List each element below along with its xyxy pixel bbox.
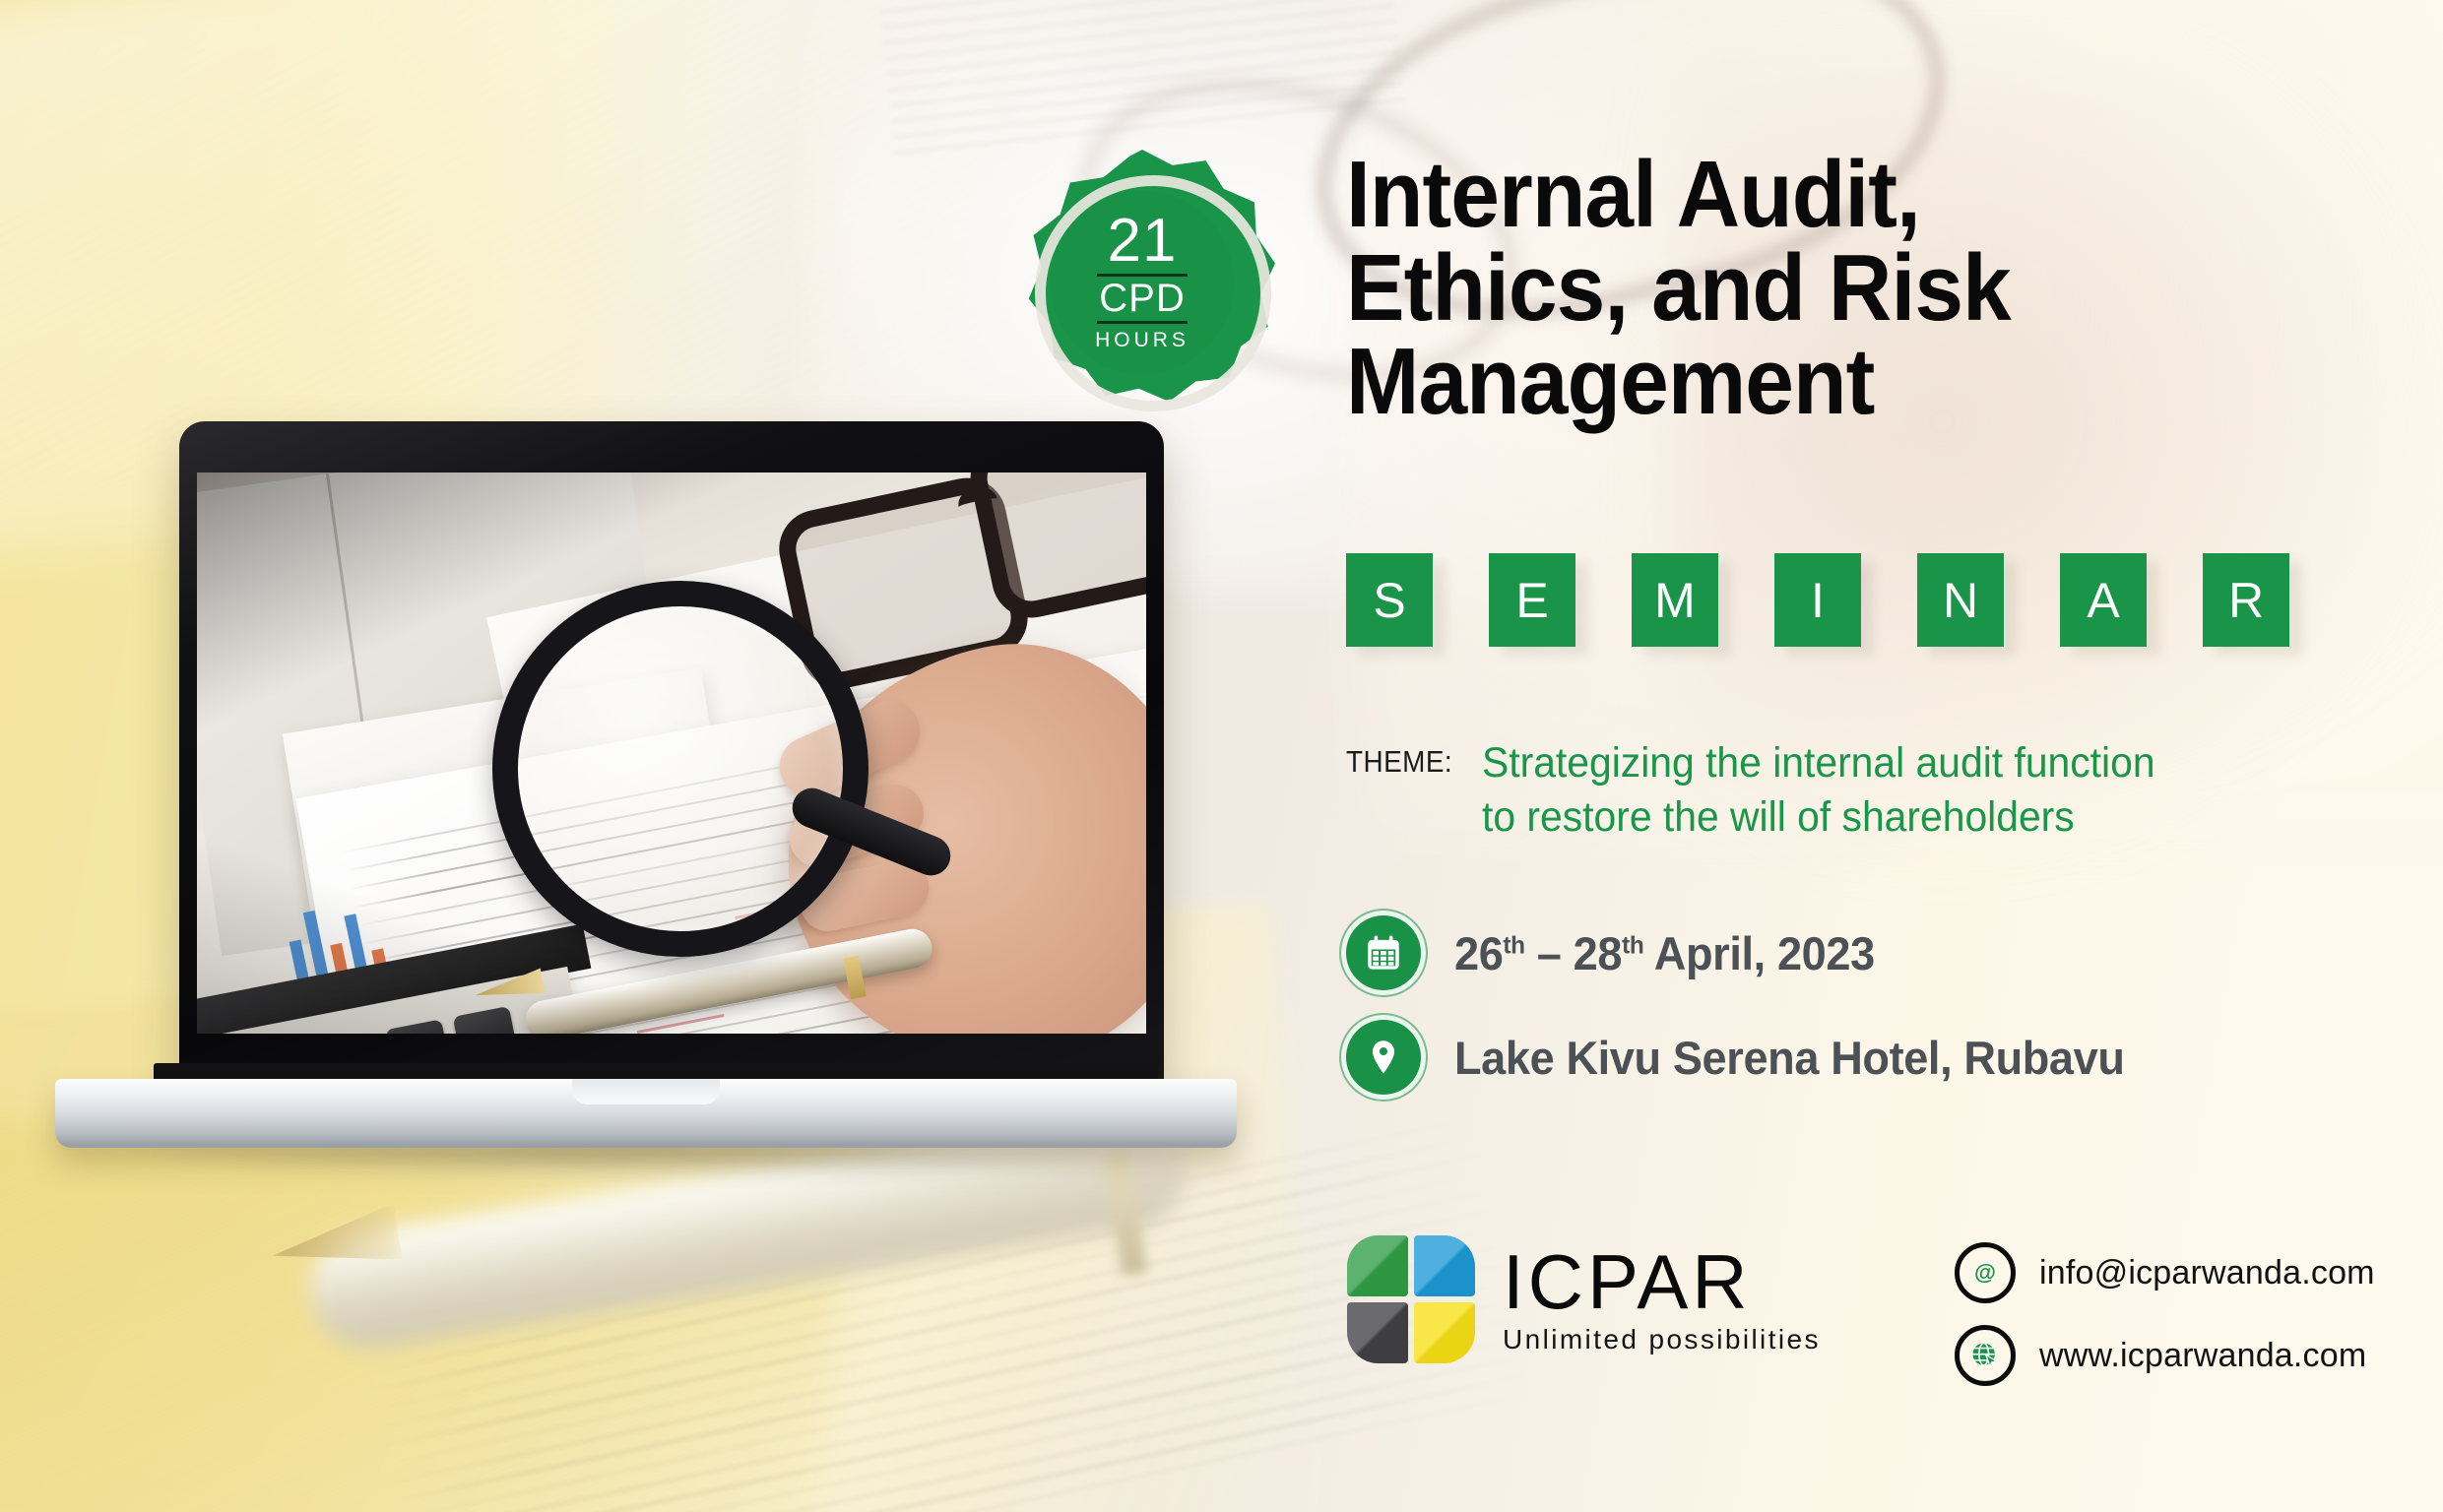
seminar-letter-tile-3: I	[1774, 553, 1861, 647]
date-day-end: 28	[1574, 927, 1622, 979]
laptop-base	[55, 1079, 1237, 1148]
icpar-tagline: Unlimited possibilities	[1503, 1324, 1821, 1355]
title-block: Internal Audit, Ethics, and Risk Managem…	[1346, 148, 2390, 428]
globe-cursor-icon	[1955, 1325, 2016, 1386]
date-day-start-suffix: th	[1503, 931, 1524, 959]
page-title-line-2: Ethics, and Risk	[1346, 241, 2317, 335]
seminar-word: SEMINAR	[1346, 553, 2289, 647]
laptop-shadow	[95, 1144, 1197, 1177]
seminar-letter-tile-6: R	[2203, 553, 2289, 647]
event-venue-row: Lake Kivu Serena Hotel, Rubavu	[1346, 1020, 2153, 1095]
date-day-end-suffix: th	[1622, 931, 1643, 959]
theme-text-wrap: Strategizing the internal audit function…	[1482, 736, 2191, 845]
page-title-line-3: Management	[1346, 335, 2317, 428]
seminar-letter-tile-0: S	[1346, 553, 1433, 647]
seminar-letter-tile-4: N	[1917, 553, 2004, 647]
date-month-year: April, 2023	[1643, 927, 1874, 979]
laptop-screen	[197, 472, 1146, 1034]
petal-yellow-icon	[1414, 1302, 1475, 1363]
event-date-row: 26th – 28th April, 2023	[1346, 915, 2153, 990]
event-venue-text: Lake Kivu Serena Hotel, Rubavu	[1454, 1031, 2125, 1085]
badge-hours-label: HOURS	[1095, 329, 1189, 352]
badge-hours-number: 21	[1108, 213, 1178, 269]
calendar-icon	[1346, 915, 1421, 990]
badge-inner-circle: 21 CPD HOURS	[1051, 191, 1234, 374]
at-sign-icon: @	[1955, 1242, 2016, 1303]
theme-block: THEME: Strategizing the internal audit f…	[1346, 736, 2191, 845]
date-separator: –	[1525, 927, 1574, 979]
petal-green-icon	[1347, 1235, 1408, 1296]
map-pin-icon	[1346, 1020, 1421, 1095]
seminar-letter-tile-2: M	[1632, 553, 1718, 647]
date-day-start: 26	[1454, 927, 1503, 979]
event-date-text: 26th – 28th April, 2023	[1454, 926, 1875, 980]
badge-cpd-label: CPD	[1099, 279, 1185, 318]
seminar-letter-tile-5: A	[2060, 553, 2147, 647]
event-details: 26th – 28th April, 2023 Lake Kivu Serena…	[1346, 915, 2153, 1124]
seminar-poster: 21 CPD HOURS Internal Audit, Ethics, and…	[0, 0, 2443, 1512]
icpar-logo: ICPAR Unlimited possibilities	[1347, 1235, 1821, 1365]
contact-block: @ info@icparwanda.com www.icparwan	[1955, 1242, 2375, 1408]
screen-photo	[197, 472, 1146, 1034]
svg-text:@: @	[1974, 1260, 1996, 1285]
seminar-letter-tile-1: E	[1489, 553, 1575, 647]
laptop-mockup	[55, 413, 1237, 1122]
theme-label: THEME:	[1346, 736, 1452, 780]
icpar-name: ICPAR	[1503, 1245, 1821, 1318]
contact-website-text[interactable]: www.icparwanda.com	[2039, 1337, 2366, 1375]
contact-website-row[interactable]: www.icparwanda.com	[1955, 1325, 2375, 1386]
petal-blue-icon	[1414, 1235, 1475, 1296]
theme-text-line-1: Strategizing the internal audit function	[1482, 736, 2155, 790]
page-title-line-1: Internal Audit,	[1346, 148, 2317, 241]
theme-text-line-2: to restore the will of shareholders	[1482, 790, 2155, 845]
contact-email-row[interactable]: @ info@icparwanda.com	[1955, 1242, 2375, 1303]
contact-email-text[interactable]: info@icparwanda.com	[2039, 1254, 2375, 1292]
badge-divider-bottom	[1097, 321, 1188, 324]
cpd-hours-badge: 21 CPD HOURS	[1009, 150, 1275, 415]
icpar-wordmark: ICPAR Unlimited possibilities	[1503, 1245, 1821, 1355]
icpar-pinwheel-icon	[1347, 1235, 1477, 1365]
laptop-lid	[179, 421, 1164, 1101]
petal-dark-icon	[1347, 1302, 1408, 1363]
